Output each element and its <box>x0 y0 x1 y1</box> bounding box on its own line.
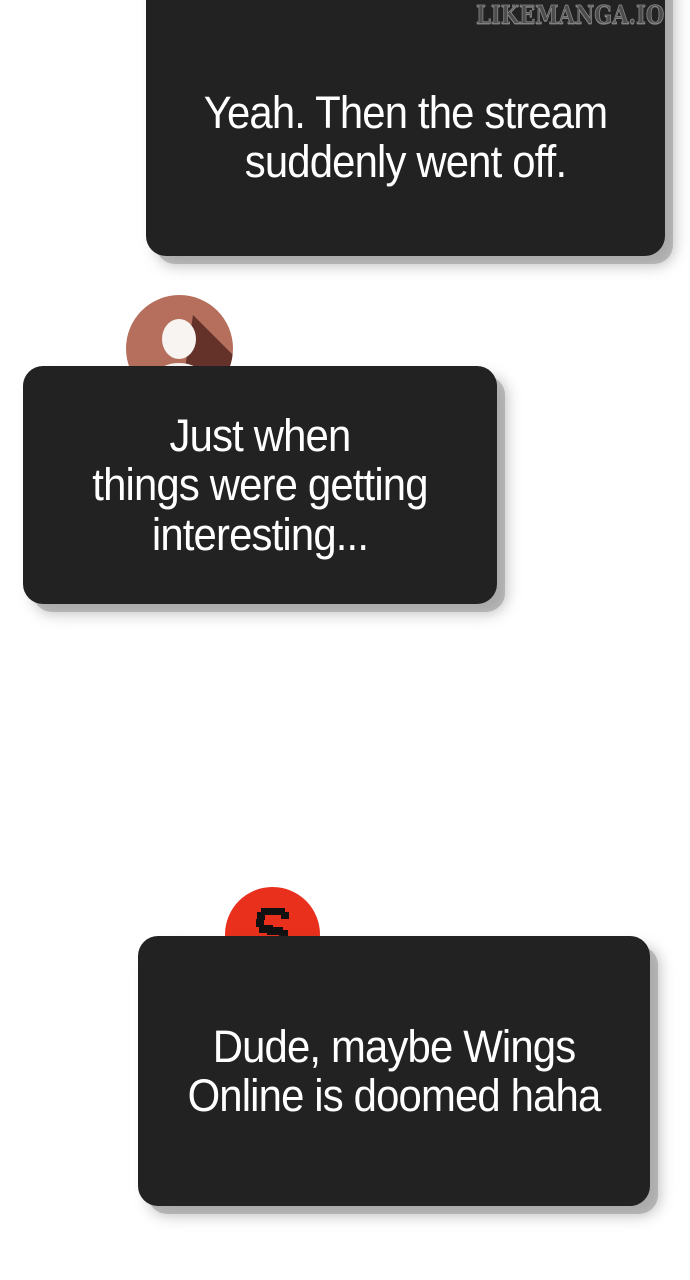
speech-bubble-1: Yeah. Then the stream suddenly went off. <box>146 0 665 256</box>
speech-bubble-2: Just when things were getting interestin… <box>23 366 497 604</box>
watermark: LIKEMANGA.IO <box>476 1 686 29</box>
speech-bubble-1-text: Yeah. Then the stream suddenly went off. <box>164 44 647 187</box>
comic-panel: Yeah. Then the stream suddenly went off.… <box>0 0 690 1280</box>
speech-bubble-2-text: Just when things were getting interestin… <box>40 411 481 560</box>
watermark-text: LIKEMANGA.IO <box>476 1 664 29</box>
speech-bubble-3-text: Dude, maybe Wings Online is doomed haha <box>156 1022 632 1121</box>
speech-bubble-3: Dude, maybe Wings Online is doomed haha <box>138 936 650 1206</box>
